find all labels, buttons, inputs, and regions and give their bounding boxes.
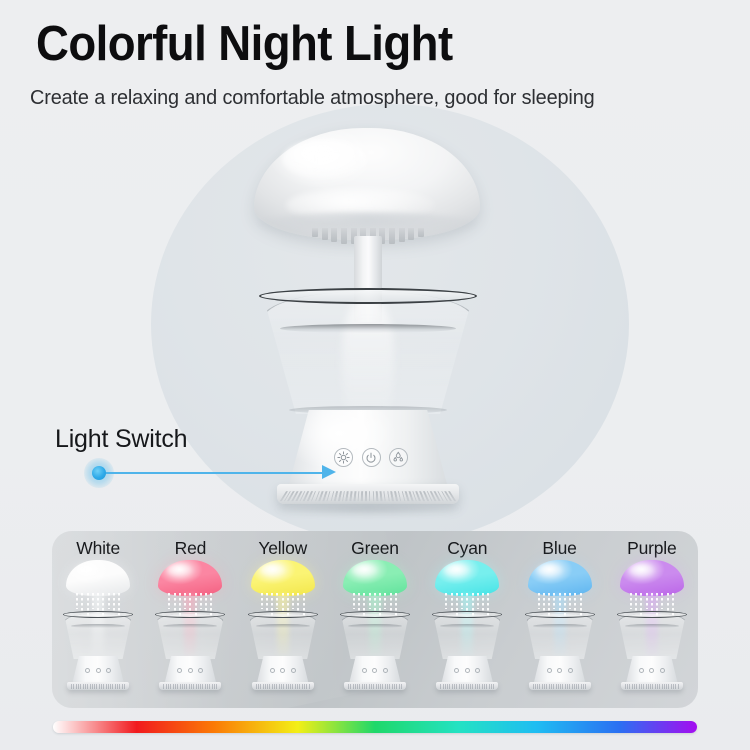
base-vent-slot — [357, 491, 359, 501]
mini-drop-column — [81, 593, 83, 613]
mini-vent-slot — [475, 684, 476, 689]
mini-control-dots — [639, 668, 665, 673]
mini-vent-slot — [466, 684, 467, 689]
mini-vent-slot — [452, 684, 453, 689]
mini-vent-slot — [486, 684, 487, 689]
mini-vent-slot — [627, 684, 628, 689]
mini-vent-slot — [122, 684, 123, 689]
mini-vent-slot — [87, 684, 88, 689]
mini-drop-column — [261, 593, 263, 609]
base-vent-slot — [346, 491, 349, 501]
mini-control-dot — [383, 668, 388, 673]
mini-product-preview — [427, 560, 507, 702]
mini-drop-column — [353, 593, 355, 609]
mini-vent-slot — [572, 684, 573, 689]
mini-base-vents — [71, 684, 125, 689]
base-vent-slot — [376, 491, 378, 501]
mini-vent-slot — [189, 684, 190, 689]
mini-vent-slot — [267, 684, 268, 689]
mini-vent-slot — [364, 684, 365, 689]
mini-rim — [432, 611, 502, 618]
mini-vent-slot — [309, 684, 310, 689]
mini-vent-slot — [553, 684, 554, 689]
base-vent-slot — [383, 491, 386, 501]
mini-tank — [341, 614, 409, 659]
mini-control-dots — [85, 668, 111, 673]
base-vent-slot — [350, 491, 353, 501]
color-swatch-row: WhiteRedYellowGreenCyanBluePurple — [52, 531, 698, 708]
mini-vent-slot — [212, 684, 213, 689]
mini-control-dot — [372, 668, 377, 673]
mini-vent-slot — [461, 684, 462, 689]
rain-nozzle — [408, 228, 414, 240]
mini-drop-column — [651, 593, 653, 613]
sun-icon — [337, 451, 350, 464]
mini-base-vents — [625, 684, 679, 689]
mini-vent-slot — [191, 684, 192, 689]
mini-control-dots — [177, 668, 203, 673]
mini-drop-column — [477, 593, 479, 609]
mini-control-dot — [198, 668, 203, 673]
mini-vent-slot — [276, 684, 277, 689]
mini-vent-slot — [650, 684, 651, 689]
base-vent-slot — [365, 491, 367, 501]
mini-vent-slot — [556, 684, 557, 689]
mini-drop-column — [113, 593, 115, 613]
mini-base-vents — [256, 684, 310, 689]
rain-nozzle — [399, 228, 405, 242]
mini-cap-highlight — [260, 564, 286, 577]
mini-vent-slot — [73, 684, 74, 689]
mini-vent-slot — [295, 684, 296, 689]
mini-vent-slot — [92, 684, 93, 689]
mini-tank — [618, 614, 686, 659]
mist-droplets-icon — [392, 451, 405, 464]
hero-product-image — [236, 128, 536, 528]
mini-vent-slot — [454, 684, 455, 689]
mini-vent-slot — [392, 684, 393, 689]
mini-vent-slot — [491, 684, 492, 689]
mini-vent-slot — [369, 684, 370, 689]
mini-control-dot — [475, 668, 480, 673]
mini-vent-slot — [648, 684, 649, 689]
mini-tank — [156, 614, 224, 659]
mini-vent-slot — [359, 684, 360, 689]
mini-drop-column — [390, 593, 392, 613]
mini-vent-slot — [562, 684, 563, 689]
mini-vent-slot — [166, 684, 167, 689]
mini-tank — [433, 614, 501, 659]
mini-control-dots — [270, 668, 296, 673]
light-switch-button[interactable] — [334, 448, 353, 467]
mini-vent-slot — [205, 684, 206, 689]
rain-nozzle — [341, 228, 347, 244]
color-swatch-label: White — [76, 538, 120, 559]
rain-nozzle — [322, 228, 328, 240]
mini-drop-column — [538, 593, 540, 609]
mini-drop-column — [97, 593, 99, 613]
rain-nozzle — [312, 228, 318, 237]
mini-control-dot — [280, 668, 285, 673]
mini-vent-slot — [399, 684, 400, 689]
color-swatch-item[interactable]: Blue — [513, 531, 605, 708]
mini-vent-slot — [472, 684, 473, 689]
mini-vent-slot — [551, 684, 552, 689]
mini-vent-slot — [477, 684, 478, 689]
mini-drop-column — [466, 593, 468, 613]
mini-drop-column — [282, 593, 284, 613]
mini-cap-highlight — [444, 564, 470, 577]
rain-nozzle — [418, 228, 424, 237]
color-swatch-label: Green — [351, 538, 399, 559]
mini-vent-slot — [558, 684, 559, 689]
color-swatch-item[interactable]: White — [52, 531, 144, 708]
mini-drop-column — [108, 593, 110, 609]
color-swatch-label: Cyan — [447, 538, 487, 559]
mini-drop-column — [184, 593, 186, 609]
mist-button[interactable] — [389, 448, 408, 467]
mini-vent-slot — [576, 684, 577, 689]
mini-vent-slot — [535, 684, 536, 689]
mini-vent-slot — [78, 684, 79, 689]
mini-drop-column — [553, 593, 555, 609]
cap-highlight — [282, 139, 368, 179]
mini-drop-column — [92, 593, 94, 609]
mini-control-dot — [291, 668, 296, 673]
mini-vent-slot — [297, 684, 298, 689]
color-swatch-item[interactable]: Red — [144, 531, 236, 708]
mini-product-preview — [612, 560, 692, 702]
base-vent-slot — [342, 491, 345, 501]
mini-vent-slot — [180, 684, 181, 689]
mini-vent-slot — [119, 684, 120, 689]
mini-vent-slot — [260, 684, 261, 689]
power-button[interactable] — [362, 448, 381, 467]
mini-vent-slot — [652, 684, 653, 689]
mini-vent-slot — [292, 684, 293, 689]
mini-tank — [526, 614, 594, 659]
mini-cap-highlight — [352, 564, 378, 577]
mini-control-dots — [454, 668, 480, 673]
mini-vent-slot — [440, 684, 441, 689]
mini-vent-slot — [269, 684, 270, 689]
mini-vent-slot — [376, 684, 377, 689]
color-swatch-item[interactable]: Purple — [606, 531, 698, 708]
mini-vent-slot — [101, 684, 102, 689]
mini-base-vents — [440, 684, 494, 689]
mini-vent-slot — [85, 684, 86, 689]
mini-cap-highlight — [629, 564, 655, 577]
mini-vent-slot — [394, 684, 395, 689]
mini-vent-slot — [636, 684, 637, 689]
mini-vent-slot — [198, 684, 199, 689]
mini-vent-slot — [671, 684, 672, 689]
mini-vent-slot — [371, 684, 372, 689]
mini-vent-slot — [103, 684, 104, 689]
annotation-leader-line — [105, 472, 327, 474]
mini-vent-slot — [286, 684, 287, 689]
mini-vent-slot — [659, 684, 660, 689]
mini-base-vents — [533, 684, 587, 689]
mini-vent-slot — [76, 684, 77, 689]
mini-vent-slot — [163, 684, 164, 689]
mini-control-dot — [96, 668, 101, 673]
mini-vent-slot — [357, 684, 358, 689]
color-spectrum-bar — [53, 721, 697, 733]
mini-vent-slot — [108, 684, 109, 689]
mini-vent-slot — [662, 684, 663, 689]
mini-vent-slot — [539, 684, 540, 689]
color-swatch-label: Yellow — [258, 538, 307, 559]
mini-rim — [525, 611, 595, 618]
color-swatch-item[interactable]: Green — [329, 531, 421, 708]
mini-control-dot — [362, 668, 367, 673]
mini-control-dot — [465, 668, 470, 673]
mini-vent-slot — [378, 684, 379, 689]
mini-vent-slot — [664, 684, 665, 689]
mini-vent-slot — [168, 684, 169, 689]
color-swatch-label: Purple — [627, 538, 676, 559]
mini-drop-column — [635, 593, 637, 613]
mini-vent-slot — [173, 684, 174, 689]
mini-vent-slot — [673, 684, 674, 689]
mini-product-preview — [243, 560, 323, 702]
mini-drop-column — [445, 593, 447, 609]
mini-drop-column — [630, 593, 632, 609]
mini-vent-slot — [574, 684, 575, 689]
mini-vent-slot — [258, 684, 259, 689]
mini-vent-slot — [655, 684, 656, 689]
page-title: Colorful Night Light — [36, 20, 453, 70]
mini-vent-slot — [449, 684, 450, 689]
base-vent-slot — [372, 491, 374, 501]
mini-vent-slot — [632, 684, 633, 689]
mini-vent-slot — [200, 684, 201, 689]
mini-vent-slot — [581, 684, 582, 689]
mini-base-vents — [348, 684, 402, 689]
mini-vent-slot — [348, 684, 349, 689]
mini-drop-column — [292, 593, 294, 609]
mini-vent-slot — [350, 684, 351, 689]
mini-vent-slot — [479, 684, 480, 689]
mini-vent-slot — [90, 684, 91, 689]
base-vent-slot — [380, 491, 383, 501]
color-swatch-label: Blue — [542, 538, 576, 559]
mini-vent-slot — [583, 684, 584, 689]
mini-vent-slot — [170, 684, 171, 689]
tank-rim — [259, 288, 477, 304]
mini-rim — [155, 611, 225, 618]
mini-vent-slot — [265, 684, 266, 689]
base-vent-slot — [387, 491, 390, 501]
mini-vent-slot — [533, 684, 534, 689]
mini-vent-slot — [639, 684, 640, 689]
mini-vent-slot — [281, 684, 282, 689]
mini-vent-slot — [380, 684, 381, 689]
mini-vent-slot — [443, 684, 444, 689]
mini-drop-column — [461, 593, 463, 609]
mini-vent-slot — [634, 684, 635, 689]
mini-rim — [340, 611, 410, 618]
mini-vent-slot — [290, 684, 291, 689]
color-swatch-item[interactable]: Yellow — [237, 531, 329, 708]
mini-vent-slot — [468, 684, 469, 689]
mini-vent-slot — [544, 684, 545, 689]
mini-vent-slot — [567, 684, 568, 689]
mini-vent-slot — [288, 684, 289, 689]
mini-rim — [63, 611, 133, 618]
tank-waterline — [280, 324, 456, 333]
mini-waterline — [625, 624, 679, 628]
mini-product-preview — [335, 560, 415, 702]
mini-cap-highlight — [537, 564, 563, 577]
mini-vent-slot — [362, 684, 363, 689]
mini-drop-column — [168, 593, 170, 609]
mini-vent-slot — [117, 684, 118, 689]
mini-control-dot — [660, 668, 665, 673]
mini-drop-column — [451, 593, 453, 613]
mini-vent-slot — [366, 684, 367, 689]
mini-drop-column — [667, 593, 669, 613]
mini-drop-column — [384, 593, 386, 609]
annotation-arrowhead-icon — [322, 465, 336, 479]
mini-vent-slot — [214, 684, 215, 689]
mini-vent-slot — [542, 684, 543, 689]
mini-vent-slot — [110, 684, 111, 689]
rain-nozzle — [389, 228, 395, 244]
mini-waterline — [533, 624, 587, 628]
mini-control-dot — [177, 668, 182, 673]
base-vent-slot — [361, 491, 363, 501]
mini-vent-slot — [578, 684, 579, 689]
mini-drop-column — [569, 593, 571, 609]
mini-drop-column — [482, 593, 484, 613]
mini-vent-slot — [355, 684, 356, 689]
mini-vent-slot — [196, 684, 197, 689]
mini-drop-column — [358, 593, 360, 613]
mini-vent-slot — [445, 684, 446, 689]
control-panel — [334, 448, 408, 467]
mini-vent-slot — [124, 684, 125, 689]
mini-vent-slot — [585, 684, 586, 689]
mini-vent-slot — [306, 684, 307, 689]
mini-vent-slot — [546, 684, 547, 689]
color-swatch-item[interactable]: Cyan — [421, 531, 513, 708]
mini-vent-slot — [80, 684, 81, 689]
mini-vent-slot — [373, 684, 374, 689]
mini-drop-column — [297, 593, 299, 613]
mini-vent-slot — [646, 684, 647, 689]
mini-vent-slot — [389, 684, 390, 689]
mini-control-dot — [649, 668, 654, 673]
mini-vent-slot — [177, 684, 178, 689]
mini-control-dot — [454, 668, 459, 673]
mini-vent-slot — [193, 684, 194, 689]
mini-vent-slot — [96, 684, 97, 689]
mini-control-dots — [362, 668, 388, 673]
mini-vent-slot — [493, 684, 494, 689]
mini-waterline — [348, 624, 402, 628]
product-shadow — [274, 502, 462, 516]
mini-vent-slot — [387, 684, 388, 689]
mini-product-preview — [58, 560, 138, 702]
mini-vent-slot — [641, 684, 642, 689]
mini-vent-slot — [385, 684, 386, 689]
mini-vent-slot — [668, 684, 669, 689]
mini-drop-column — [266, 593, 268, 613]
base-vent-slot — [369, 491, 371, 501]
mini-vent-slot — [207, 684, 208, 689]
mini-vent-slot — [299, 684, 300, 689]
mini-waterline — [163, 624, 217, 628]
mini-cap-highlight — [75, 564, 101, 577]
mini-base-vents — [163, 684, 217, 689]
mini-control-dot — [270, 668, 275, 673]
mini-waterline — [71, 624, 125, 628]
mini-vent-slot — [256, 684, 257, 689]
mini-vent-slot — [83, 684, 84, 689]
mini-drop-column — [559, 593, 561, 613]
mini-control-dot — [568, 668, 573, 673]
mini-vent-slot — [401, 684, 402, 689]
rain-nozzle — [331, 228, 337, 242]
mini-waterline — [440, 624, 494, 628]
mini-control-dot — [188, 668, 193, 673]
mini-vent-slot — [489, 684, 490, 689]
mini-drop-column — [574, 593, 576, 613]
mini-vent-slot — [112, 684, 113, 689]
mini-control-dot — [547, 668, 552, 673]
mini-tank — [249, 614, 317, 659]
mini-vent-slot — [304, 684, 305, 689]
annotation-marker-dot — [92, 466, 106, 480]
mini-cap-highlight — [167, 564, 193, 577]
mini-drop-column — [543, 593, 545, 613]
mini-vent-slot — [106, 684, 107, 689]
mini-vent-slot — [549, 684, 550, 689]
base-vents — [280, 491, 457, 501]
mini-drop-column — [76, 593, 78, 609]
mini-vent-slot — [484, 684, 485, 689]
mini-drop-column — [374, 593, 376, 613]
mini-waterline — [256, 624, 310, 628]
mini-vent-slot — [353, 684, 354, 689]
mini-drop-column — [646, 593, 648, 609]
mini-vent-slot — [382, 684, 383, 689]
mini-drop-column — [189, 593, 191, 613]
mini-vent-slot — [283, 684, 284, 689]
mini-vent-slot — [678, 684, 679, 689]
mini-vent-slot — [459, 684, 460, 689]
mini-vent-slot — [396, 684, 397, 689]
mini-rim — [248, 611, 318, 618]
mini-vent-slot — [302, 684, 303, 689]
mini-vent-slot — [175, 684, 176, 689]
mini-vent-slot — [565, 684, 566, 689]
water-tank — [262, 292, 474, 414]
mini-tank — [64, 614, 132, 659]
mini-vent-slot — [675, 684, 676, 689]
mini-vent-slot — [447, 684, 448, 689]
mini-vent-slot — [71, 684, 72, 689]
mini-vent-slot — [629, 684, 630, 689]
mini-rim — [617, 611, 687, 618]
mini-vent-slot — [537, 684, 538, 689]
mini-vent-slot — [202, 684, 203, 689]
mini-control-dot — [639, 668, 644, 673]
mini-vent-slot — [456, 684, 457, 689]
mini-vent-slot — [657, 684, 658, 689]
